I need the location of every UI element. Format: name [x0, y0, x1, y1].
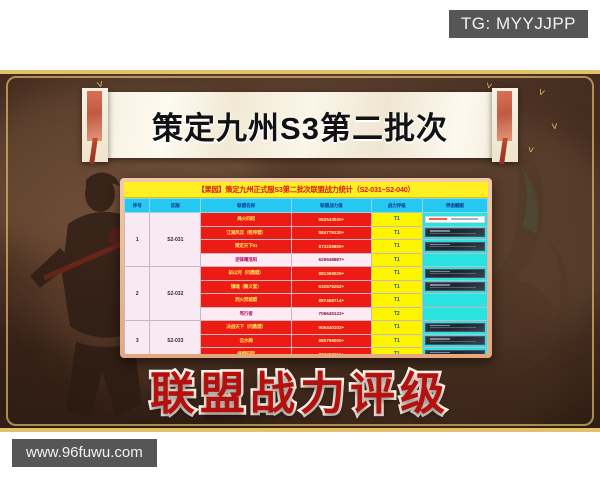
title-banner: 策定九州S3第二批次	[82, 92, 518, 158]
cell-power: 706645122+	[291, 307, 371, 321]
screenshot-thumbnail[interactable]	[425, 282, 485, 291]
screenshot-thumbnail[interactable]	[425, 269, 485, 278]
cell-power: 887468714+	[291, 294, 371, 308]
cell-power: 881368025+	[291, 267, 371, 281]
cell-alliance-name: 烈火焚城盟	[201, 294, 292, 308]
spreadsheet-screenshot-frame: 【果园】策定九州正式服S3第二批次联盟战力统计（S2-031~S2-040） 序…	[120, 178, 492, 358]
scroll-end-left	[82, 88, 108, 162]
col-power: 联盟战力值	[291, 199, 371, 213]
table-row: 1S2-031烽火四起952543030+T1	[125, 213, 488, 227]
cell-index: 2	[125, 267, 150, 321]
cell-alliance-name: 烽烟四起	[201, 348, 292, 355]
cell-screenshot	[422, 226, 487, 240]
cell-index: 3	[125, 321, 150, 355]
cell-alliance-name: 逆锋曜洛阳	[201, 253, 292, 267]
cell-tier: T1	[371, 240, 422, 254]
screenshot-thumbnail[interactable]	[425, 350, 485, 354]
scroll-tail	[89, 138, 98, 164]
alliance-power-table: 序号 区服 联盟名称 联盟战力值 战力评级 界面截图 1S2-031烽火四起95…	[124, 198, 488, 354]
cell-alliance-name: 云水阁	[201, 334, 292, 348]
cell-index: 1	[125, 213, 150, 267]
cell-tier: T1	[371, 213, 422, 227]
telegram-watermark: TG: MYYJJPP	[449, 10, 588, 38]
screenshot-thumbnail[interactable]	[425, 242, 485, 251]
screenshot-thumbnail-light[interactable]	[425, 216, 485, 223]
cell-power: 803457211+	[291, 348, 371, 355]
spreadsheet-screenshot: 【果园】策定九州正式服S3第二批次联盟战力统计（S2-031~S2-040） 序…	[124, 182, 488, 354]
cell-screenshot	[422, 280, 487, 294]
cell-tier: T2	[371, 307, 422, 321]
cell-tier: T1	[371, 253, 422, 267]
sheet-title: 【果园】策定九州正式服S3第二批次联盟战力统计（S2-031~S2-040）	[124, 182, 488, 198]
cell-tier: T1	[371, 280, 422, 294]
cell-zone: S2-032	[150, 267, 201, 321]
poster-artwork: ⱽ ⱽ ⱽ ⱽ ⱽ ⱽ ⱽ 策定九州S3第二批次 【果园】策定九州正式服S3第二…	[0, 70, 600, 432]
table-row: 2S2-032斩山河（问鼎盟）881368025+T1	[125, 267, 488, 281]
cell-tier: T1	[371, 267, 422, 281]
cell-power: 873239800+	[291, 240, 371, 254]
cell-screenshot	[422, 321, 487, 335]
top-white-strip: TG: MYYJJPP	[0, 0, 600, 70]
scroll-end-right	[492, 88, 518, 162]
screenshot-thumbnail[interactable]	[425, 323, 485, 332]
screenshot-thumbnail[interactable]	[425, 336, 485, 345]
bottom-white-strip: www.96fuwu.com	[0, 432, 600, 480]
cell-tier: T1	[371, 226, 422, 240]
cell-power: 632876252+	[291, 280, 371, 294]
table-row: 3S2-033决战天下（问鼎盟）905440103+T1	[125, 321, 488, 335]
cell-tier: T1	[371, 321, 422, 335]
page-title: 策定九州S3第二批次	[110, 92, 490, 158]
cell-power: 629948887+	[291, 253, 371, 267]
scroll-ribbon	[87, 91, 102, 141]
bird-icon: ⱽ	[536, 87, 546, 101]
cell-alliance-name: 烽火四起	[201, 213, 292, 227]
cell-power: 905440103+	[291, 321, 371, 335]
cell-screenshot	[422, 294, 487, 308]
col-tier: 战力评级	[371, 199, 422, 213]
cell-screenshot	[422, 307, 487, 321]
cell-power: 952543030+	[291, 213, 371, 227]
cell-screenshot	[422, 253, 487, 267]
cell-power: 884779130+	[291, 226, 371, 240]
cell-screenshot	[422, 348, 487, 355]
col-screenshot: 界面截图	[422, 199, 487, 213]
table-body: 1S2-031烽火四起952543030+T1江湖风云（乾坤盟）88477913…	[125, 213, 488, 355]
cell-alliance-name: 斩山河（问鼎盟）	[201, 267, 292, 281]
cell-tier: T1	[371, 294, 422, 308]
cell-alliance-name: 决战天下（问鼎盟）	[201, 321, 292, 335]
table-header-row: 序号 区服 联盟名称 联盟战力值 战力评级 界面截图	[125, 199, 488, 213]
col-index: 序号	[125, 199, 150, 213]
cell-tier: T1	[371, 334, 422, 348]
col-alliance: 联盟名称	[201, 199, 292, 213]
scroll-ribbon	[497, 91, 512, 141]
cell-zone: S2-033	[150, 321, 201, 355]
screenshot-thumbnail[interactable]	[425, 228, 485, 237]
bird-icon: ⱽ	[527, 146, 534, 159]
site-watermark: www.96fuwu.com	[12, 439, 157, 467]
cell-alliance-name: 江湖风云（乾坤盟）	[201, 226, 292, 240]
scroll-tail	[499, 138, 508, 164]
cell-screenshot	[422, 240, 487, 254]
col-zone: 区服	[150, 199, 201, 213]
bottom-headline: 联盟战力评级	[0, 357, 600, 422]
cell-alliance-name: 策定天下01	[201, 240, 292, 254]
cell-zone: S2-031	[150, 213, 201, 267]
cell-screenshot	[422, 213, 487, 227]
cell-power: 880799005+	[291, 334, 371, 348]
bird-icon: ⱽ	[551, 122, 558, 136]
cell-screenshot	[422, 267, 487, 281]
cell-alliance-name: 镇魂（聚义堂）	[201, 280, 292, 294]
cell-tier: T1	[371, 348, 422, 355]
cell-alliance-name: 笃行者	[201, 307, 292, 321]
cell-screenshot	[422, 334, 487, 348]
